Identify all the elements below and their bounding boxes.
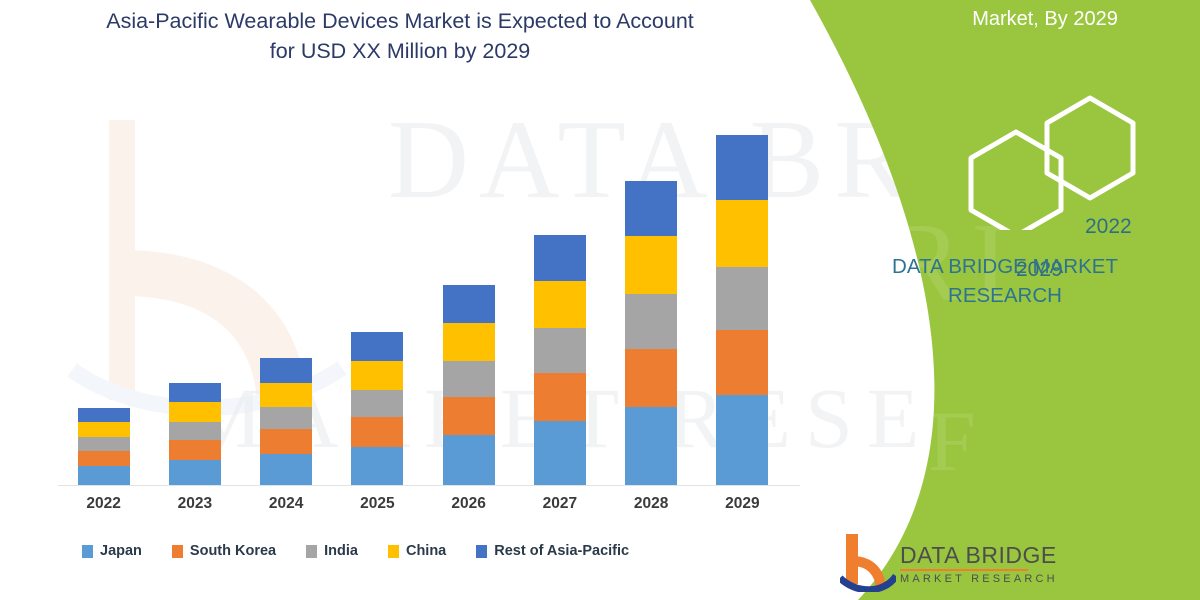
panel-brand: DATA BRIDGE MARKET RESEARCH [840, 252, 1170, 310]
bar-group-2025 [332, 96, 423, 485]
bar-segment[interactable] [443, 285, 495, 323]
page-title: Asia-Pacific Wearable Devices Market is … [40, 6, 760, 66]
bar-group-2026 [423, 96, 514, 485]
x-axis-label-2028: 2028 [606, 495, 697, 525]
bar-segment[interactable] [351, 332, 403, 361]
bar-segment[interactable] [169, 402, 221, 422]
hexagon-outlines-icon [828, 90, 1200, 230]
x-axis-line [58, 485, 800, 486]
chart-legend: JapanSouth KoreaIndiaChinaRest of Asia-P… [58, 538, 800, 564]
x-axis-label-2023: 2023 [149, 495, 240, 525]
page-title-line-1: Asia-Pacific Wearable Devices Market is … [40, 6, 760, 36]
stacked-bar[interactable] [443, 285, 495, 485]
x-axis-tick-labels: 20222023202420252026202720282029 [58, 495, 788, 525]
bar-segment[interactable] [443, 397, 495, 435]
legend-label: Japan [100, 543, 142, 559]
bar-group-2022 [58, 96, 149, 485]
stacked-bar-chart-plot [58, 96, 788, 485]
bar-segment[interactable] [351, 417, 403, 447]
panel-brand-line-2: RESEARCH [840, 281, 1170, 310]
logo-divider [900, 569, 1028, 571]
logo-name: DATA BRIDGE [900, 542, 1057, 569]
green-side-panel: BRI ERF Market, By 2029 2022 2029 DATA B… [780, 0, 1200, 600]
bar-segment[interactable] [534, 421, 586, 485]
bar-segment[interactable] [625, 181, 677, 236]
legend-swatch-icon [476, 545, 487, 558]
chart-panel: Asia-Pacific Wearable Devices Market is … [0, 0, 880, 600]
x-axis-label-2026: 2026 [423, 495, 514, 525]
bar-segment[interactable] [169, 383, 221, 402]
bar-segment[interactable] [443, 361, 495, 397]
bar-segment[interactable] [78, 437, 130, 451]
x-axis-label-2027: 2027 [514, 495, 605, 525]
bar-group-2027 [514, 96, 605, 485]
infographic-root: DATA BRIDGE MARKET RESEARCH Asia-Pacific… [0, 0, 1200, 600]
bar-group-2029 [697, 96, 788, 485]
legend-label: China [406, 543, 446, 559]
bar-segment[interactable] [534, 328, 586, 373]
bar-segment[interactable] [78, 451, 130, 466]
legend-swatch-icon [82, 545, 93, 558]
legend-item[interactable]: Rest of Asia-Pacific [476, 543, 629, 559]
bar-segment[interactable] [716, 200, 768, 267]
bar-segment[interactable] [534, 281, 586, 328]
bar-segment[interactable] [716, 135, 768, 200]
bar-segment[interactable] [443, 435, 495, 485]
bar-segment[interactable] [625, 236, 677, 294]
page-title-line-2: for USD XX Million by 2029 [40, 36, 760, 66]
legend-label: India [324, 543, 358, 559]
bar-group-2023 [149, 96, 240, 485]
legend-item[interactable]: India [306, 543, 358, 559]
bar-segment[interactable] [260, 358, 312, 383]
panel-brand-line-1: DATA BRIDGE MARKET [840, 252, 1170, 281]
bar-segment[interactable] [716, 330, 768, 395]
x-axis-label-2029: 2029 [697, 495, 788, 525]
bar-segment[interactable] [534, 235, 586, 281]
legend-item[interactable]: South Korea [172, 543, 276, 559]
legend-swatch-icon [172, 545, 183, 558]
bar-segment[interactable] [169, 460, 221, 485]
bar-segment[interactable] [625, 349, 677, 407]
bar-segment[interactable] [534, 373, 586, 421]
stacked-bar[interactable] [534, 235, 586, 485]
bar-segment[interactable] [260, 429, 312, 454]
bar-segment[interactable] [625, 294, 677, 349]
stacked-bar[interactable] [351, 332, 403, 485]
legend-item[interactable]: Japan [82, 543, 142, 559]
bar-segment[interactable] [625, 407, 677, 485]
bar-segment[interactable] [169, 422, 221, 440]
stacked-bar[interactable] [625, 181, 677, 485]
bar-segment[interactable] [169, 440, 221, 460]
logo-tagline: MARKET RESEARCH [900, 573, 1058, 585]
bar-segment[interactable] [260, 454, 312, 485]
bar-segment[interactable] [260, 383, 312, 407]
bar-segment[interactable] [78, 466, 130, 485]
x-axis-label-2022: 2022 [58, 495, 149, 525]
legend-item[interactable]: China [388, 543, 446, 559]
legend-label: South Korea [190, 543, 276, 559]
bar-group-2024 [241, 96, 332, 485]
legend-swatch-icon [388, 545, 399, 558]
bar-segment[interactable] [260, 407, 312, 429]
bar-segment[interactable] [78, 408, 130, 422]
x-axis-label-2025: 2025 [332, 495, 423, 525]
data-bridge-mark-icon [840, 532, 896, 592]
stacked-bar[interactable] [716, 135, 768, 485]
x-axis-label-2024: 2024 [241, 495, 332, 525]
legend-swatch-icon [306, 545, 317, 558]
company-logo: DATA BRIDGE MARKET RESEARCH [840, 528, 1140, 600]
bar-segment[interactable] [716, 267, 768, 330]
bar-group-2028 [606, 96, 697, 485]
bar-segment[interactable] [78, 422, 130, 437]
green-panel-content: Market, By 2029 2022 2029 DATA BRIDGE MA… [780, 0, 1200, 600]
hexagon-group: 2022 2029 [828, 90, 1200, 230]
stacked-bar[interactable] [169, 383, 221, 485]
legend-label: Rest of Asia-Pacific [494, 543, 629, 559]
bar-segment[interactable] [443, 323, 495, 361]
stacked-bar[interactable] [260, 358, 312, 485]
hexagon-label-new: 2022 [1085, 215, 1132, 239]
bar-segment[interactable] [351, 390, 403, 417]
bar-segment[interactable] [351, 361, 403, 390]
stacked-bar[interactable] [78, 408, 130, 485]
panel-heading: Market, By 2029 [900, 8, 1190, 31]
bar-segment[interactable] [351, 447, 403, 485]
bar-segment[interactable] [716, 395, 768, 485]
